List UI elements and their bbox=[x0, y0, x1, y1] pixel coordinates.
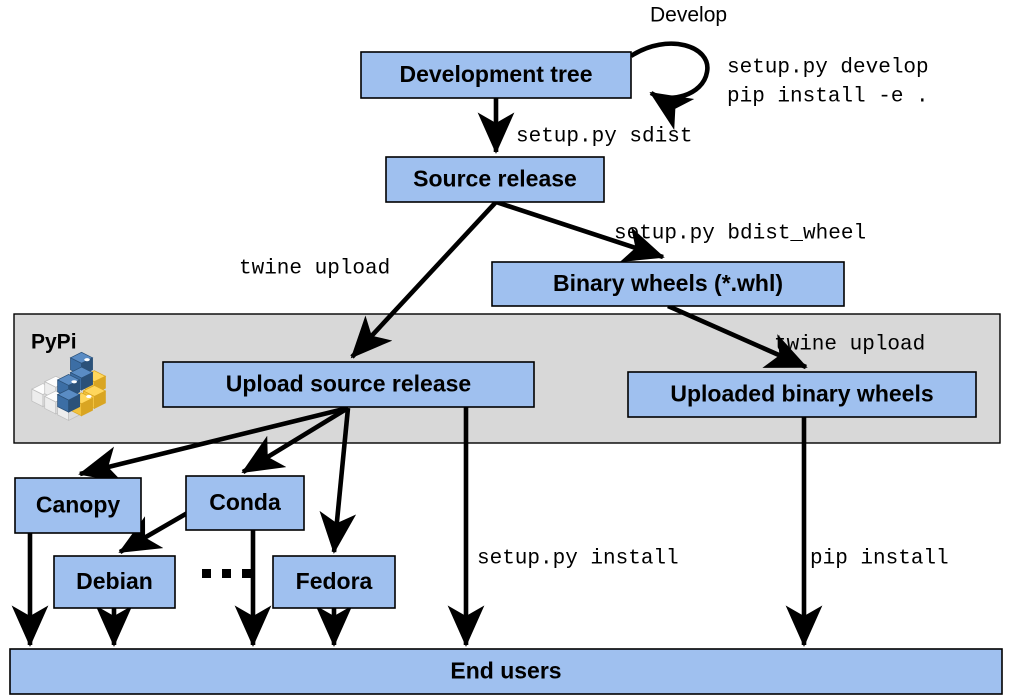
node-binary-wheels[interactable]: Binary wheels (*.whl) bbox=[492, 262, 844, 306]
node-source-release[interactable]: Source release bbox=[386, 157, 604, 202]
node-fedora[interactable]: Fedora bbox=[273, 556, 395, 608]
label-pip-install: pip install bbox=[810, 548, 949, 571]
label-develop: Develop bbox=[650, 4, 727, 27]
node-end-users-label: End users bbox=[450, 658, 561, 684]
node-end-users[interactable]: End users bbox=[10, 649, 1002, 694]
node-conda[interactable]: Conda bbox=[186, 476, 304, 530]
label-setup-py-develop: setup.py develop bbox=[727, 57, 929, 80]
node-fedora-label: Fedora bbox=[296, 568, 373, 594]
label-setup-py-bdist-wheel: setup.py bdist_wheel bbox=[614, 223, 866, 246]
label-pip-install-editable: pip install -e . bbox=[727, 86, 929, 109]
pypi-panel-label: PyPi bbox=[31, 331, 77, 354]
label-twine-upload-wheels: twine upload bbox=[774, 334, 925, 357]
node-canopy-label: Canopy bbox=[36, 492, 121, 518]
node-uploaded-binary-wheels[interactable]: Uploaded binary wheels bbox=[628, 372, 976, 417]
label-setup-py-sdist: setup.py sdist bbox=[516, 126, 692, 149]
node-upload-source-release[interactable]: Upload source release bbox=[163, 362, 534, 407]
label-setup-py-install: setup.py install bbox=[477, 548, 679, 571]
more-distros-ellipsis bbox=[202, 569, 251, 578]
node-binary-wheels-label: Binary wheels (*.whl) bbox=[553, 270, 783, 296]
node-debian-label: Debian bbox=[76, 568, 153, 594]
node-conda-label: Conda bbox=[209, 489, 281, 515]
node-dev-tree-label: Development tree bbox=[399, 61, 592, 87]
packaging-flow-diagram: PyPi bbox=[0, 0, 1009, 698]
node-uploaded-binary-wheels-label: Uploaded binary wheels bbox=[670, 381, 933, 407]
node-dev-tree[interactable]: Development tree bbox=[361, 52, 631, 98]
edge-dev-self-loop bbox=[631, 44, 707, 98]
node-debian[interactable]: Debian bbox=[54, 556, 175, 608]
label-twine-upload-source: twine upload bbox=[239, 258, 390, 281]
node-canopy[interactable]: Canopy bbox=[15, 478, 141, 533]
diagram-canvas: PyPi bbox=[0, 0, 1009, 698]
node-source-release-label: Source release bbox=[413, 166, 577, 192]
node-upload-source-release-label: Upload source release bbox=[226, 371, 471, 397]
